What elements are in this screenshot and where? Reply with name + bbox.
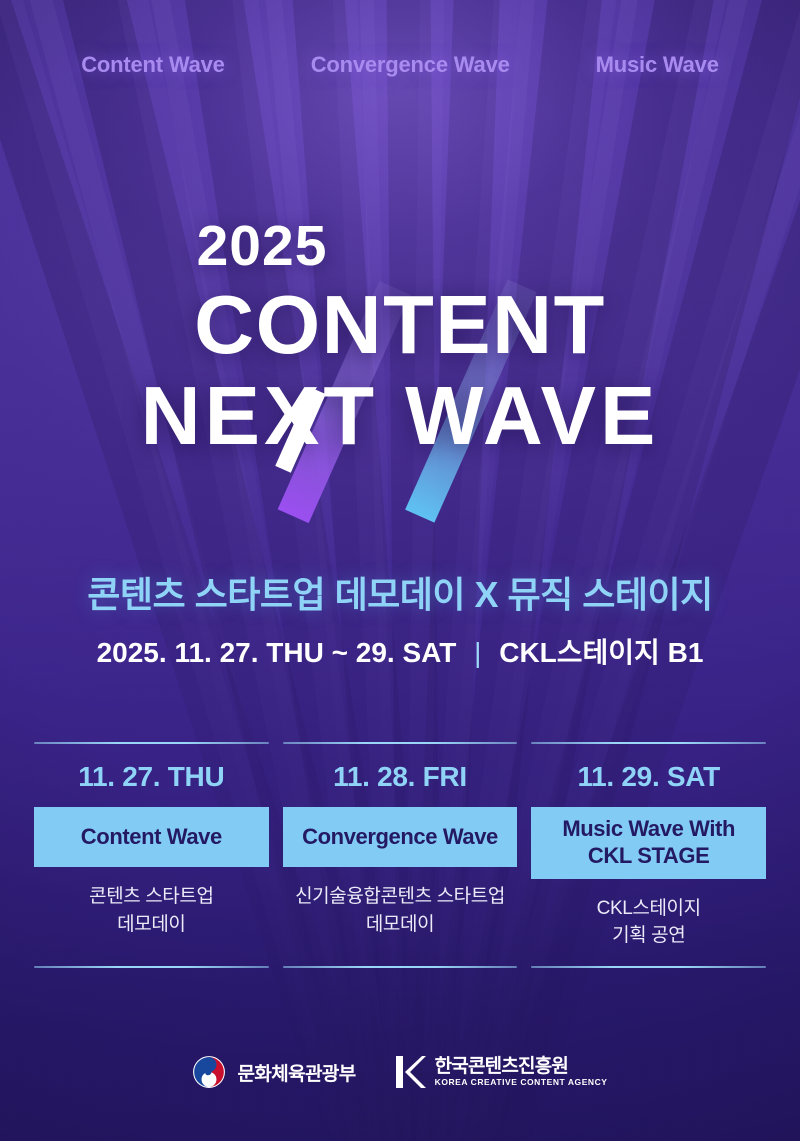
schedule-rule-bottom: [283, 966, 518, 968]
schedule-desc-line1: 콘텐츠 스타트업: [38, 883, 265, 911]
schedule-column-day3: 11. 29. SAT Music Wave WithCKL STAGE CKL…: [531, 742, 766, 968]
headline-block: 콘텐츠 스타트업 데모데이 X 뮤직 스테이지 2025. 11. 27. TH…: [0, 572, 800, 671]
wave-label-content: Content Wave: [81, 52, 224, 78]
wave-label-row: Content Wave Convergence Wave Music Wave: [0, 52, 800, 78]
schedule-badge-day2: Convergence Wave: [283, 807, 518, 867]
schedule-desc-line2: 기획 공연: [535, 922, 762, 950]
logotype-line-content: CONTENT: [0, 283, 800, 368]
schedule-rule-top: [34, 742, 269, 744]
schedule-desc-line2: 데모데이: [287, 911, 514, 939]
headline-date-range: 2025. 11. 27. THU ~ 29. SAT: [97, 637, 457, 668]
schedule-rule-top: [283, 742, 518, 744]
schedule-rule-bottom: [531, 966, 766, 968]
logo-ministry-name: 문화체육관광부: [237, 1059, 355, 1086]
schedule-rule-top: [531, 742, 766, 744]
headline-separator: |: [474, 637, 481, 668]
poster-root: Content Wave Convergence Wave Music Wave…: [0, 0, 800, 1141]
footer-logos: 문화체육관광부 한국콘텐츠진흥원 KOREA CREATIVE CONTENT …: [0, 1055, 800, 1089]
schedule-column-day1: 11. 27. THU Content Wave 콘텐츠 스타트업 데모데이: [34, 742, 269, 968]
headline-venue: CKL스테이지 B1: [499, 637, 703, 668]
background-blades: [0, 0, 800, 1141]
logotype-stack: CONTENT NEXT WAVE: [0, 283, 800, 483]
schedule-desc-day2: 신기술융합콘텐츠 스타트업 데모데이: [283, 867, 518, 966]
logo-agency-name-ko: 한국콘텐츠진흥원: [435, 1057, 608, 1076]
logo-ministry-culture-sports-tourism: 문화체육관광부: [192, 1055, 355, 1089]
background-vignette: [0, 0, 800, 1141]
taegeuk-icon: [192, 1055, 226, 1089]
schedule-rule-bottom: [34, 966, 269, 968]
kocca-k-icon: [396, 1056, 426, 1088]
event-logotype: 2025 CONTENT NEXT WAVE: [0, 218, 800, 483]
logo-agency-text: 한국콘텐츠진흥원 KOREA CREATIVE CONTENT AGENCY: [435, 1057, 608, 1087]
schedule-badge-day3: Music Wave WithCKL STAGE: [531, 807, 766, 879]
schedule-column-day2: 11. 28. FRI Convergence Wave 신기술융합콘텐츠 스타…: [283, 742, 518, 968]
schedule-desc-day3: CKL스테이지 기획 공연: [531, 879, 766, 966]
schedule-desc-day1: 콘텐츠 스타트업 데모데이: [34, 867, 269, 966]
logotype-line-next-wave: NEXT WAVE: [0, 374, 800, 459]
logotype-year: 2025: [0, 218, 800, 275]
schedule-desc-line1: 신기술융합콘텐츠 스타트업: [287, 883, 514, 911]
schedule-desc-line2: 데모데이: [38, 911, 265, 939]
schedule-date-day1: 11. 27. THU: [34, 761, 269, 793]
headline-title: 콘텐츠 스타트업 데모데이 X 뮤직 스테이지: [0, 572, 800, 617]
wave-label-convergence: Convergence Wave: [311, 52, 510, 78]
logo-agency-name-en: KOREA CREATIVE CONTENT AGENCY: [435, 1078, 608, 1087]
background-grain: [0, 0, 800, 1141]
logo-korea-creative-content-agency: 한국콘텐츠진흥원 KOREA CREATIVE CONTENT AGENCY: [396, 1056, 608, 1088]
headline-date-venue: 2025. 11. 27. THU ~ 29. SAT | CKL스테이지 B1: [0, 631, 800, 671]
schedule-date-day3: 11. 29. SAT: [531, 761, 766, 793]
schedule-desc-line1: CKL스테이지: [535, 895, 762, 923]
schedule-date-day2: 11. 28. FRI: [283, 761, 518, 793]
schedule-badge-day1: Content Wave: [34, 807, 269, 867]
wave-label-music: Music Wave: [596, 52, 719, 78]
schedule-grid: 11. 27. THU Content Wave 콘텐츠 스타트업 데모데이 1…: [34, 742, 766, 968]
